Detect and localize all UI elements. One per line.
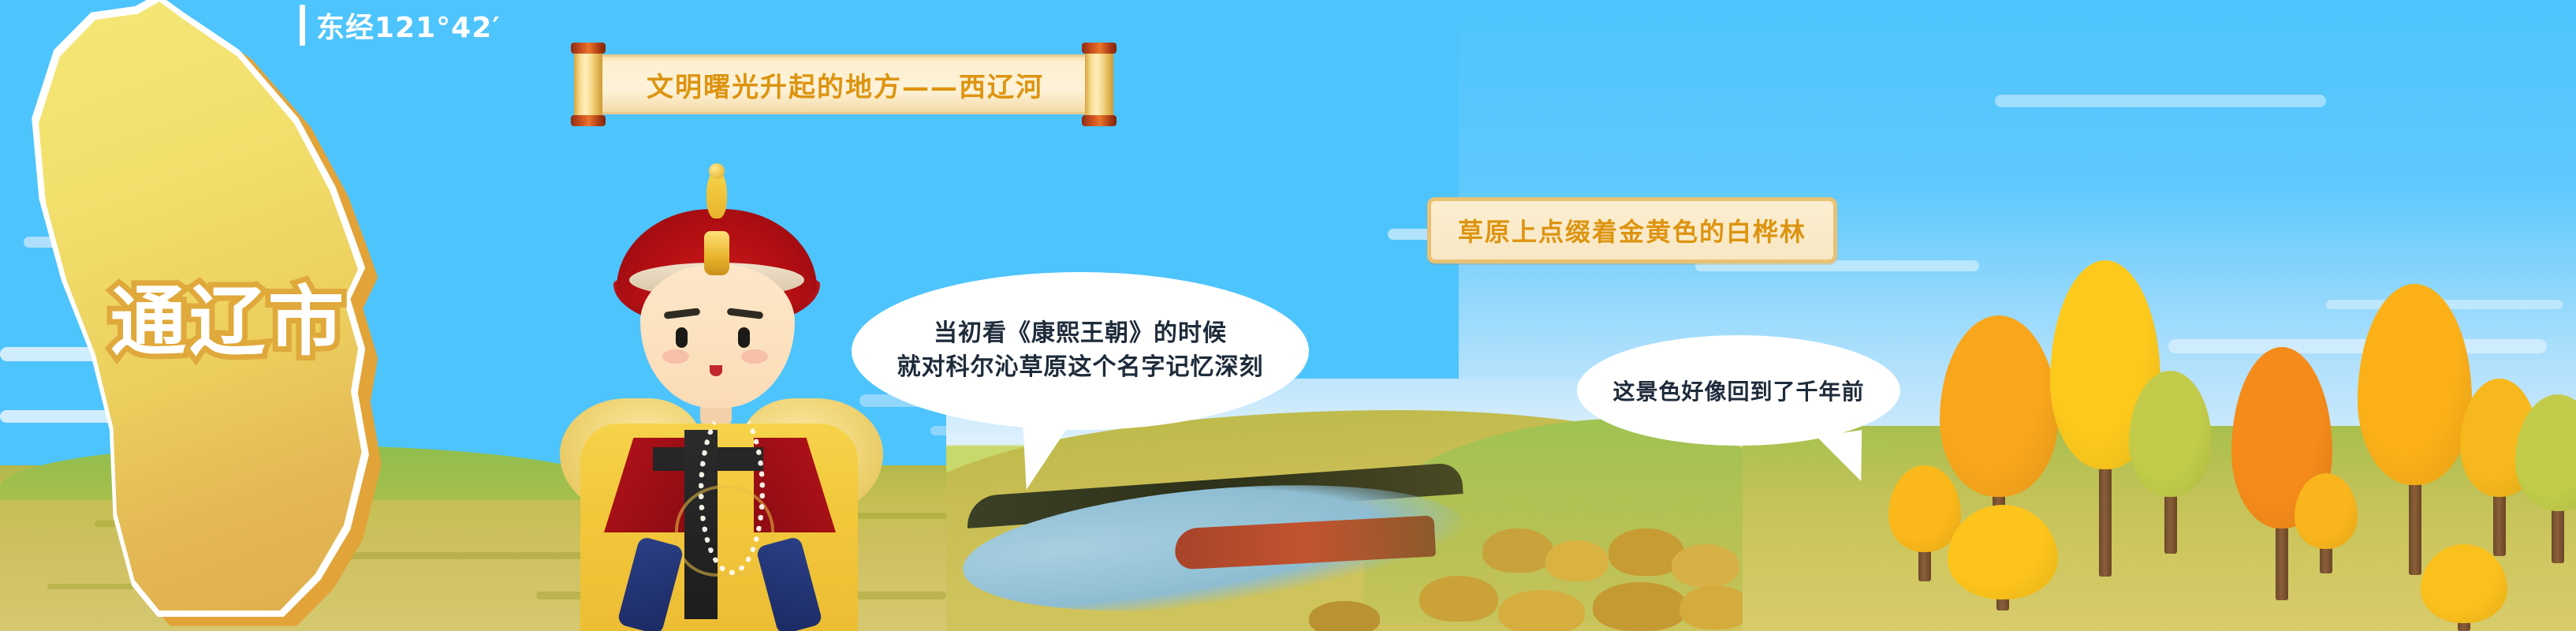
birch-forest-tag-label[interactable]: 草原上点缀着金黄色的白桦林 [1427,197,1837,263]
tree-crown [2421,544,2507,623]
birch-tree [2421,544,2507,631]
scroll-roller-right-icon [1085,48,1113,121]
scroll-banner-text: 文明曙光升起的地方——西辽河 [585,54,1105,114]
birch-tree [1948,505,2058,631]
birch-tree [2129,371,2212,592]
bubble-emperor[interactable]: 当初看《康熙王朝》的时候 就对科尔沁草原这个名字记忆深刻 [852,272,1309,430]
scroll-paper: 文明曙光升起的地方——西辽河 [585,54,1105,114]
tree-crown [1948,505,2058,599]
bubble-scenery[interactable]: 这景色好像回到了千年前 [1577,335,1900,446]
cheek-right [741,349,768,364]
poster-canvas: 通辽市 通辽市 东经121°42′ 文明曙光升起的地方——西辽河 草原上点缀着金… [0,0,2576,631]
emperor-character-illustration[interactable] [552,170,883,631]
court-necklace-icon [699,406,765,575]
scroll-banner[interactable]: 文明曙光升起的地方——西辽河 [552,43,1135,118]
eye-left [676,327,688,348]
eye-right [738,327,750,348]
coordinate-label: 东经121°42′ [300,5,501,46]
bubble-tail-emperor [1012,416,1071,495]
bubble-emperor-line2: 就对科尔沁草原这个名字记忆深刻 [897,351,1264,385]
tree-crown [2515,394,2576,511]
hat-bead-icon [709,163,725,179]
scroll-roller-left-icon [574,48,602,121]
bubble-tail-scenery [1817,430,1869,486]
tree-crown [2129,371,2212,497]
cheek-left [662,349,689,364]
hat-jewel-icon [704,231,729,275]
birch-tree [2295,473,2358,596]
bubble-emperor-line1: 当初看《康熙王朝》的时候 [897,317,1264,351]
city-name-label: 通辽市 [110,260,347,370]
cloud-10 [1995,95,2326,107]
bubble-scenery-line1: 这景色好像回到了千年前 [1612,375,1864,406]
mouth [710,365,722,376]
tree-crown [2295,473,2358,549]
coordinate-text: 东经121°42′ [316,5,501,46]
birch-tree [2515,394,2576,598]
face [640,264,795,408]
tree-crown [2358,284,2472,485]
accent-bar-icon [300,5,305,46]
